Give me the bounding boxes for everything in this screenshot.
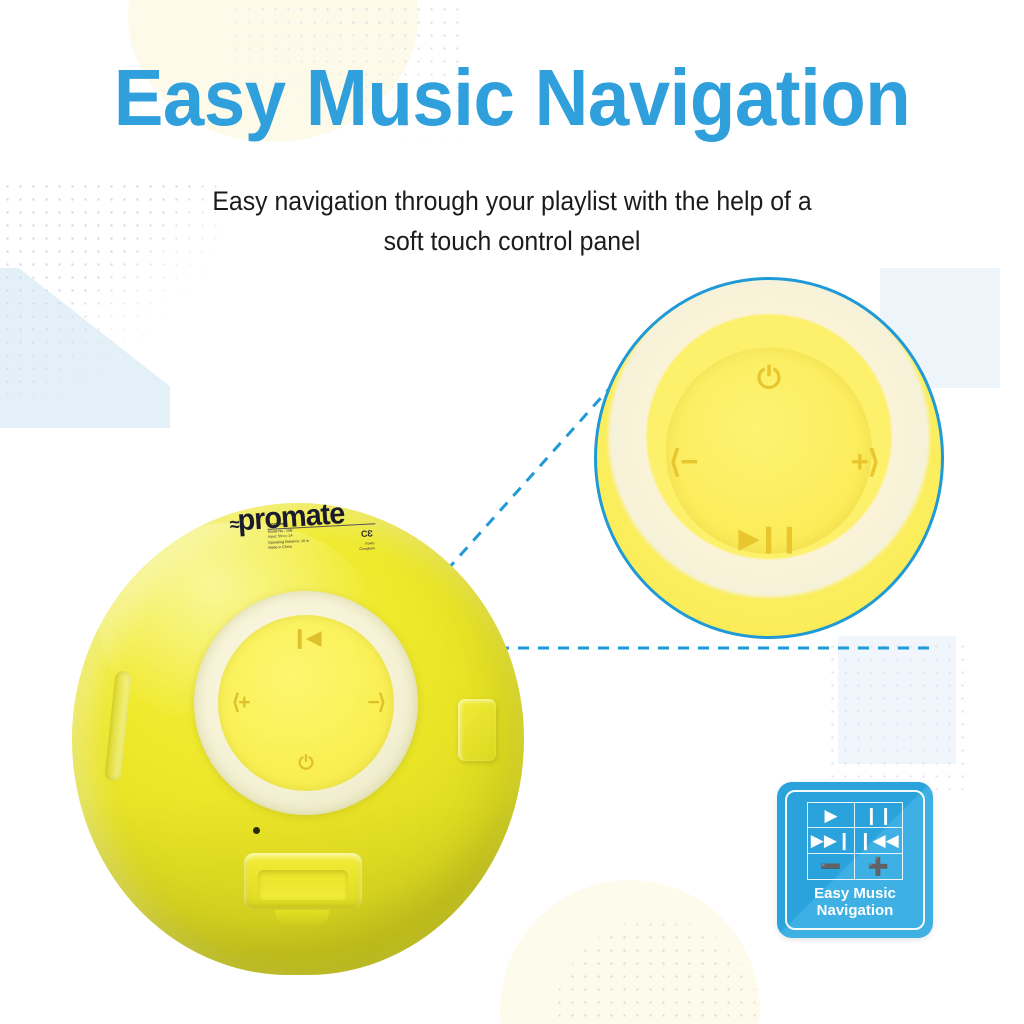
- volume-down-icon[interactable]: −⟩: [368, 690, 384, 715]
- power-icon[interactable]: ⏻: [757, 364, 781, 394]
- plus-icon: ➕: [855, 854, 902, 879]
- product-speaker: ❙◀ ⟨+ −⟩ ⏻: [72, 503, 524, 975]
- feature-badge: ▶ ❙❙ ▶▶❙ ❙◀◀ ➖ ➕ Easy Music Navigation: [777, 782, 933, 938]
- badge-title: Easy Music Navigation: [777, 886, 933, 920]
- magnified-control-panel: ⏻ ⟨− +⟩ ▶❙❙: [594, 277, 944, 639]
- speaker-hook-lip: [275, 910, 329, 926]
- badge-icon-grid: ▶ ❙❙ ▶▶❙ ❙◀◀ ➖ ➕: [807, 802, 903, 880]
- pause-icon: ❙❙: [855, 803, 902, 828]
- badge-title-line-2: Navigation: [777, 903, 933, 920]
- previous-track-icon[interactable]: ❙◀: [292, 627, 321, 650]
- previous-track-icon: ❙◀◀: [855, 828, 902, 853]
- control-panel-disc[interactable]: ❙◀ ⟨+ −⟩ ⏻: [218, 615, 394, 791]
- control-panel-ring: ❙◀ ⟨+ −⟩ ⏻: [194, 591, 418, 815]
- play-pause-icon[interactable]: ▶❙❙: [739, 523, 800, 554]
- speaker-side-ridge: [104, 670, 131, 781]
- speaker-side-button[interactable]: [458, 699, 496, 761]
- play-icon: ▶: [808, 803, 855, 828]
- volume-up-icon[interactable]: +⟩: [851, 444, 879, 480]
- microphone-hole: [253, 827, 260, 834]
- power-icon[interactable]: ⏻: [298, 753, 313, 775]
- volume-up-icon[interactable]: ⟨+: [232, 690, 248, 715]
- product-spec-label: promate Model No.: 20B Input: 5V══ 1A Op…: [267, 516, 377, 558]
- next-track-icon: ▶▶❙: [808, 828, 855, 853]
- ce-mark-icon: C Ɛ: [361, 527, 373, 541]
- badge-title-line-1: Easy Music: [777, 886, 933, 903]
- rohs-mark-icon: RoHS Compliant: [359, 542, 375, 552]
- speaker-strap-hook: [244, 853, 362, 909]
- volume-down-icon[interactable]: ⟨−: [669, 444, 697, 480]
- minus-icon: ➖: [808, 854, 855, 879]
